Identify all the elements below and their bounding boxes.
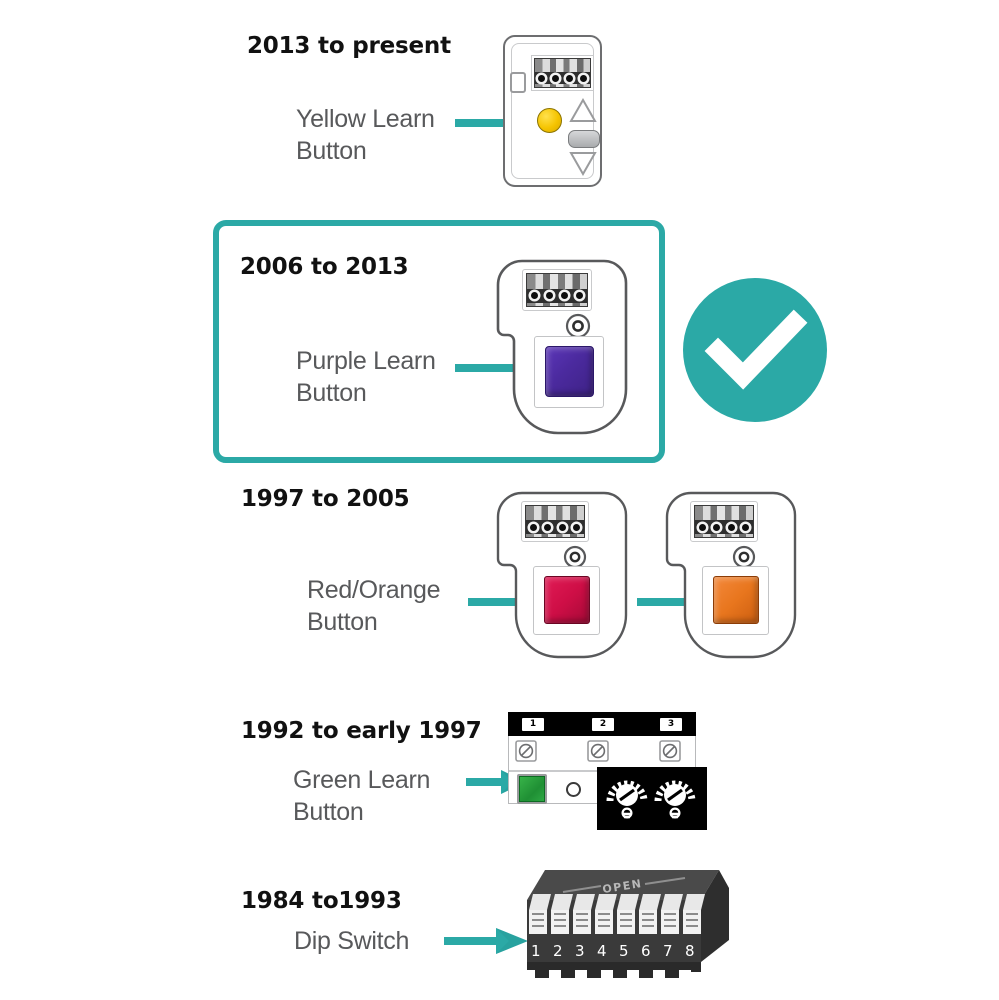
red-learn-button[interactable]	[544, 576, 590, 624]
callout-red-orange-button: Red/Orange Button	[307, 574, 440, 638]
terminal-block-2	[526, 273, 588, 307]
era-heading-1992-1997: 1992 to early 1997	[241, 718, 482, 744]
screw-terminal-icon-1	[515, 740, 537, 762]
terminal-screws-3a	[526, 520, 584, 534]
callout-green-learn-button: Green Learn Button	[293, 764, 430, 828]
down-arrow-button-icon[interactable]	[569, 151, 597, 176]
panel-1992-header: 1 2 3	[508, 712, 696, 736]
panel-terminal-label-3: 3	[660, 718, 682, 731]
era-heading-1997-2005: 1997 to 2005	[241, 486, 409, 512]
chart-canvas: 2013 to present Yellow Learn Button 2006…	[0, 0, 999, 1000]
dip-switch-position-1: 1	[531, 942, 541, 960]
panel-terminal-label-2: 2	[592, 718, 614, 731]
orange-learn-button[interactable]	[713, 576, 759, 624]
terminal-screws-3b	[695, 520, 753, 534]
dip-switch-position-8: 8	[685, 942, 695, 960]
callout-purple-learn-button: Purple Learn Button	[296, 345, 436, 409]
green-learn-button[interactable]	[517, 774, 547, 804]
up-arrow-button-icon[interactable]	[569, 98, 597, 123]
screw-terminal-icon-2	[587, 740, 609, 762]
purple-learn-button[interactable]	[545, 346, 594, 397]
callout-dip-switch: Dip Switch	[294, 925, 409, 957]
terminal-block-3b	[694, 505, 754, 538]
dip-switch-position-6: 6	[641, 942, 651, 960]
terminal-block-1	[534, 58, 591, 88]
panel-terminal-label-1: 1	[522, 718, 544, 731]
rotary-dials-icon	[600, 769, 704, 828]
era-heading-2013-present: 2013 to present	[247, 33, 451, 59]
yellow-learn-button[interactable]	[537, 108, 562, 133]
terminal-block-3a	[525, 505, 585, 538]
dip-switch-position-2: 2	[553, 942, 563, 960]
panel-indicator-led-icon	[566, 782, 581, 797]
era-heading-2006-2013: 2006 to 2013	[240, 254, 408, 280]
dip-switch-position-7: 7	[663, 942, 673, 960]
device-side-notch	[510, 72, 526, 93]
light-button[interactable]	[568, 130, 600, 148]
screw-terminal-icon-3	[659, 740, 681, 762]
dip-switch-position-3: 3	[575, 942, 585, 960]
terminal-screws-2	[527, 289, 587, 303]
dip-switch-position-5: 5	[619, 942, 629, 960]
check-circle-icon	[680, 275, 830, 425]
dip-switch-device: OPEN	[505, 866, 737, 982]
callout-yellow-learn-button: Yellow Learn Button	[296, 103, 435, 167]
terminal-screws-1	[535, 72, 590, 84]
era-heading-1984-1993: 1984 to1993	[241, 888, 402, 914]
dip-switch-position-4: 4	[597, 942, 607, 960]
